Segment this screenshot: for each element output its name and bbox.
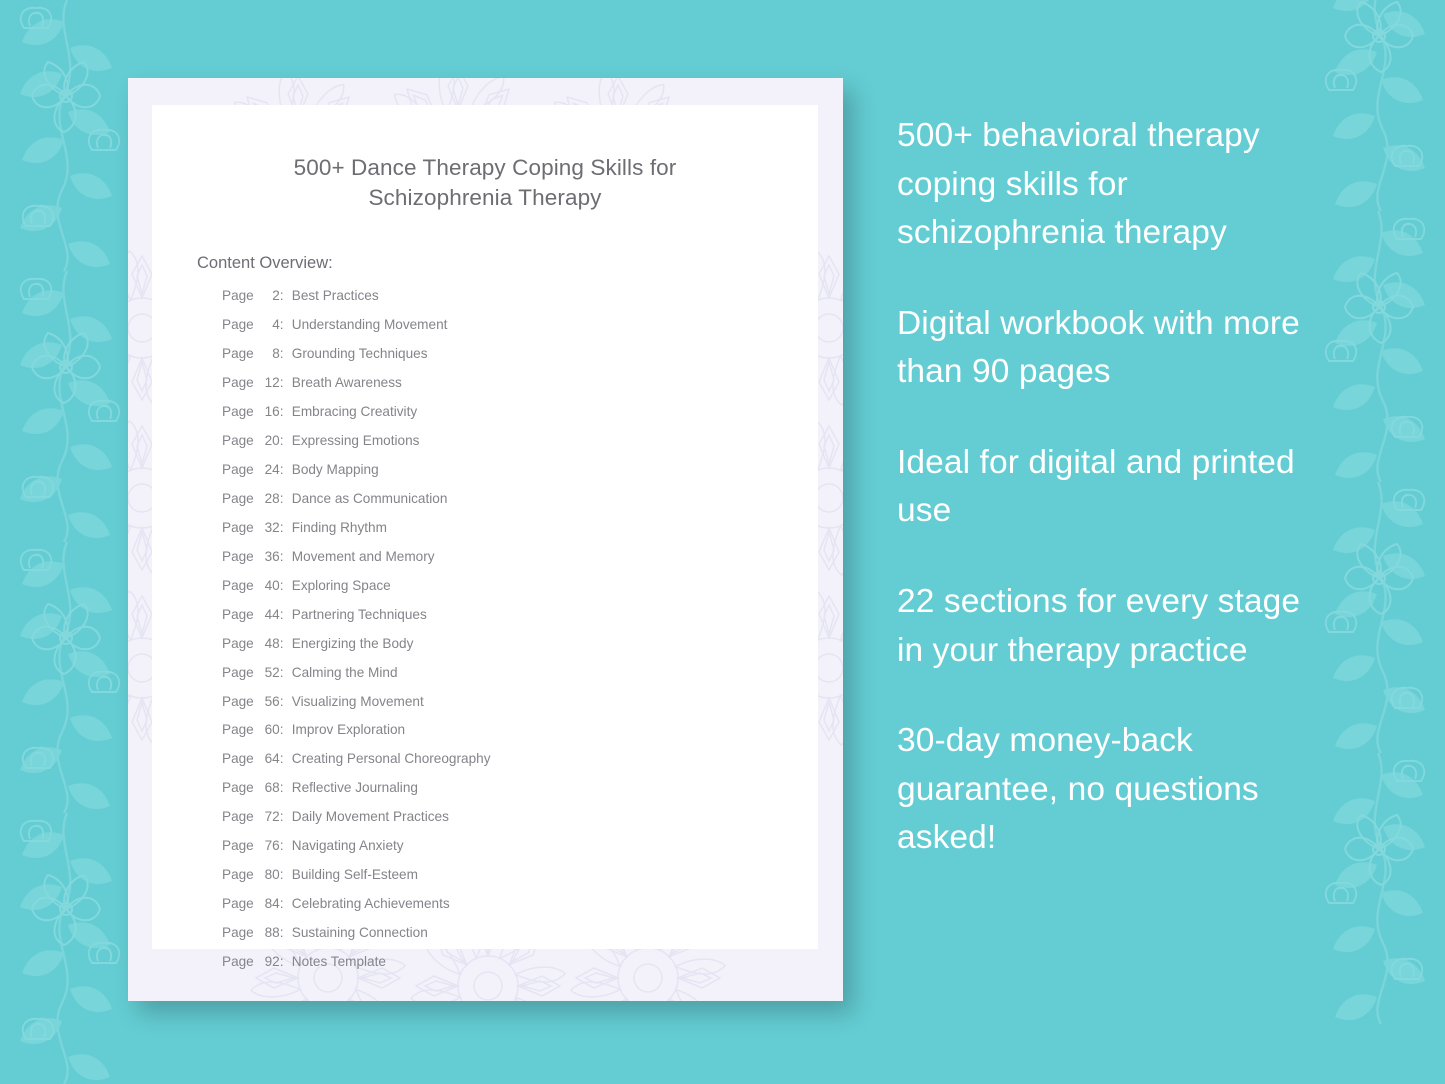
toc-page-word: Page [222,376,254,390]
toc-page-number: 80 [254,868,280,882]
toc-section-title: Energizing the Body [292,637,414,651]
toc-section-title: Notes Template [292,955,386,969]
toc-section-title: Grounding Techniques [292,347,428,361]
toc-colon: : [280,347,292,361]
toc-colon: : [280,666,292,680]
toc-colon: : [280,810,292,824]
toc-page-word: Page [222,434,254,448]
floral-vine-left-decoration [0,0,142,1084]
toc-page-word: Page [222,492,254,506]
toc-section-title: Expressing Emotions [292,434,420,448]
toc-colon: : [280,289,292,303]
toc-page-number: 76 [254,839,280,853]
toc-section-title: Celebrating Achievements [292,897,450,911]
toc-page-word: Page [222,347,254,361]
toc-entry[interactable]: Page 56:Visualizing Movement [222,695,818,709]
toc-section-title: Improv Exploration [292,723,405,737]
toc-entry[interactable]: Page 24:Body Mapping [222,463,818,477]
toc-entry[interactable]: Page 80:Building Self-Esteem [222,868,818,882]
toc-section-title: Exploring Space [292,579,391,593]
toc-colon: : [280,579,292,593]
toc-entry[interactable]: Page 60:Improv Exploration [222,723,818,737]
toc-colon: : [280,637,292,651]
toc-colon: : [280,434,292,448]
toc-page-word: Page [222,955,254,969]
toc-entry[interactable]: Page 16:Embracing Creativity [222,405,818,419]
toc-colon: : [280,897,292,911]
marketing-bullet: 22 sections for every stage in your ther… [897,578,1317,675]
toc-section-title: Dance as Communication [292,492,448,506]
toc-section-title: Understanding Movement [292,318,448,332]
toc-colon: : [280,463,292,477]
toc-colon: : [280,926,292,940]
marketing-bullet: 500+ behavioral therapy coping skills fo… [897,112,1317,258]
toc-entry[interactable]: Page 40:Exploring Space [222,579,818,593]
marketing-bullet: Ideal for digital and printed use [897,439,1317,536]
toc-page-word: Page [222,781,254,795]
toc-section-title: Visualizing Movement [292,695,424,709]
toc-colon: : [280,781,292,795]
toc-entry[interactable]: Page 2:Best Practices [222,289,818,303]
toc-page-number: 8 [254,347,280,361]
toc-page-number: 68 [254,781,280,795]
toc-section-title: Body Mapping [292,463,379,477]
toc-colon: : [280,376,292,390]
toc-page-number: 40 [254,579,280,593]
toc-section-title: Building Self-Esteem [292,868,418,882]
toc-page-word: Page [222,666,254,680]
toc-page-number: 84 [254,897,280,911]
marketing-bullet-list: 500+ behavioral therapy coping skills fo… [897,112,1317,863]
toc-entry[interactable]: Page 48:Energizing the Body [222,637,818,651]
toc-page-word: Page [222,839,254,853]
toc-page-word: Page [222,550,254,564]
toc-page-number: 56 [254,695,280,709]
toc-page-word: Page [222,289,254,303]
toc-colon: : [280,318,292,332]
toc-page-word: Page [222,897,254,911]
toc-entry[interactable]: Page 8:Grounding Techniques [222,347,818,361]
toc-colon: : [280,955,292,969]
toc-section-title: Reflective Journaling [292,781,418,795]
toc-section-title: Creating Personal Choreography [292,752,491,766]
toc-page-word: Page [222,521,254,535]
toc-page-number: 32 [254,521,280,535]
toc-page-word: Page [222,463,254,477]
toc-page-word: Page [222,608,254,622]
toc-page-word: Page [222,810,254,824]
toc-page-number: 4 [254,318,280,332]
toc-section-title: Navigating Anxiety [292,839,404,853]
marketing-bullet: Digital workbook with more than 90 pages [897,300,1317,397]
toc-page-word: Page [222,318,254,332]
toc-entry[interactable]: Page 84:Celebrating Achievements [222,897,818,911]
toc-page-number: 64 [254,752,280,766]
toc-entry[interactable]: Page 68:Reflective Journaling [222,781,818,795]
content-overview-label: Content Overview: [152,254,818,273]
toc-page-number: 52 [254,666,280,680]
toc-page-word: Page [222,405,254,419]
toc-entry[interactable]: Page 4:Understanding Movement [222,318,818,332]
toc-page-number: 36 [254,550,280,564]
toc-section-title: Movement and Memory [292,550,435,564]
toc-page-word: Page [222,868,254,882]
toc-section-title: Best Practices [292,289,379,303]
toc-section-title: Sustaining Connection [292,926,428,940]
toc-entry[interactable]: Page 52:Calming the Mind [222,666,818,680]
toc-page-number: 48 [254,637,280,651]
toc-section-title: Finding Rhythm [292,521,387,535]
toc-colon: : [280,752,292,766]
toc-entry[interactable]: Page 64:Creating Personal Choreography [222,752,818,766]
toc-colon: : [280,695,292,709]
toc-entry[interactable]: Page 76:Navigating Anxiety [222,839,818,853]
toc-entry[interactable]: Page 36:Movement and Memory [222,550,818,564]
toc-page-number: 72 [254,810,280,824]
floral-vine-right-decoration [1303,0,1445,1084]
toc-entry[interactable]: Page 88:Sustaining Connection [222,926,818,940]
document-page: 500+ Dance Therapy Coping Skills for Sch… [152,105,818,949]
toc-section-title: Calming the Mind [292,666,398,680]
toc-page-number: 12 [254,376,280,390]
toc-page-word: Page [222,752,254,766]
toc-colon: : [280,868,292,882]
toc-colon: : [280,550,292,564]
toc-entry[interactable]: Page 12:Breath Awareness [222,376,818,390]
toc-colon: : [280,521,292,535]
table-of-contents: Page 2:Best PracticesPage 4:Understandin… [152,289,818,968]
toc-section-title: Daily Movement Practices [292,810,449,824]
page-title: 500+ Dance Therapy Coping Skills for Sch… [225,105,745,212]
toc-entry[interactable]: Page 44:Partnering Techniques [222,608,818,622]
toc-section-title: Embracing Creativity [292,405,417,419]
toc-page-number: 44 [254,608,280,622]
toc-section-title: Breath Awareness [292,376,402,390]
toc-section-title: Partnering Techniques [292,608,427,622]
toc-entry[interactable]: Page 92:Notes Template [222,955,818,969]
toc-page-number: 2 [254,289,280,303]
toc-page-number: 92 [254,955,280,969]
toc-entry[interactable]: Page 20:Expressing Emotions [222,434,818,448]
toc-entry[interactable]: Page 32:Finding Rhythm [222,521,818,535]
toc-page-number: 16 [254,405,280,419]
marketing-bullet: 30-day money-back guarantee, no question… [897,717,1317,863]
toc-page-word: Page [222,637,254,651]
toc-page-number: 60 [254,723,280,737]
toc-page-word: Page [222,926,254,940]
toc-colon: : [280,723,292,737]
toc-page-word: Page [222,723,254,737]
toc-page-number: 20 [254,434,280,448]
toc-colon: : [280,405,292,419]
toc-page-word: Page [222,579,254,593]
toc-colon: : [280,492,292,506]
toc-colon: : [280,839,292,853]
toc-page-word: Page [222,695,254,709]
toc-colon: : [280,608,292,622]
toc-page-number: 24 [254,463,280,477]
toc-page-number: 88 [254,926,280,940]
document-preview-card[interactable]: 500+ Dance Therapy Coping Skills for Sch… [128,78,843,1001]
toc-page-number: 28 [254,492,280,506]
toc-entry[interactable]: Page 28:Dance as Communication [222,492,818,506]
toc-entry[interactable]: Page 72:Daily Movement Practices [222,810,818,824]
